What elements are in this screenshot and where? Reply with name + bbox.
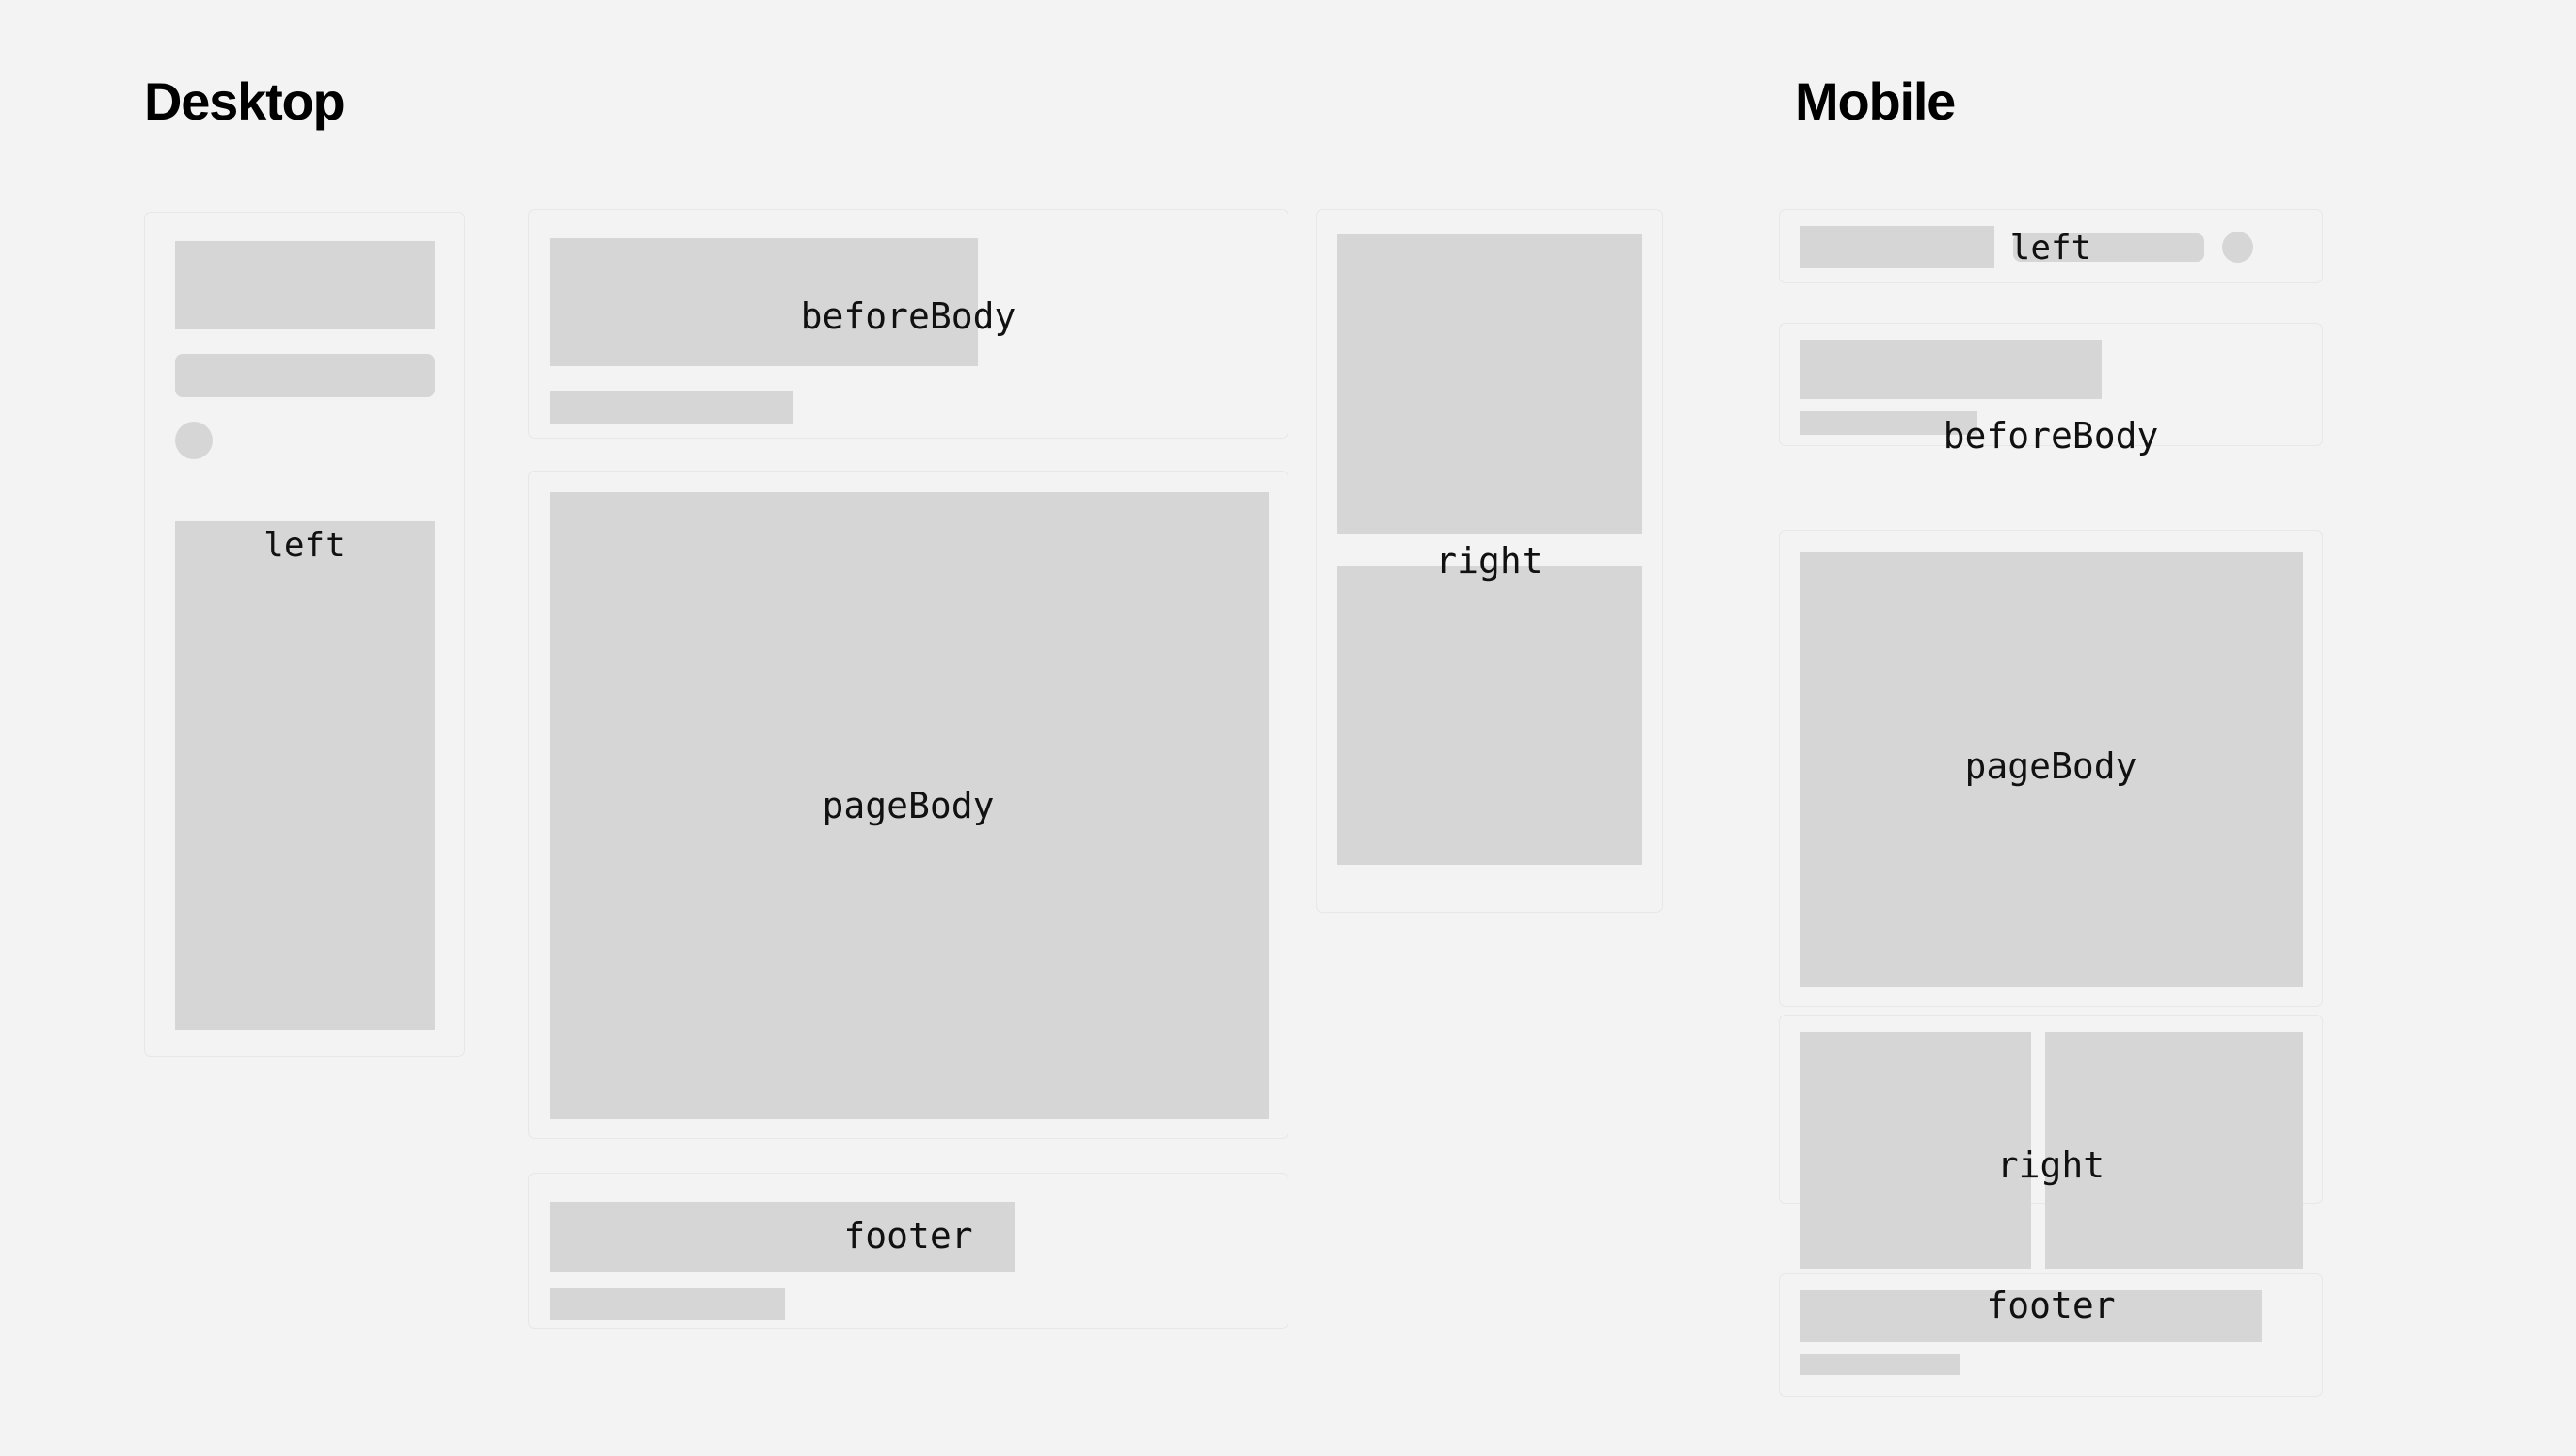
mobile-region-left[interactable]	[1779, 209, 2323, 283]
desktop-beforebody-banner-block	[550, 238, 978, 366]
mobile-footer-block	[1800, 1290, 2262, 1342]
desktop-right-widget-block-bottom	[1337, 566, 1642, 865]
mobile-footer-caption-bar	[1800, 1354, 1960, 1375]
mobile-region-right[interactable]	[1779, 1015, 2323, 1204]
mobile-left-avatar-dot-icon	[2222, 232, 2253, 263]
desktop-pagebody-content-block	[550, 492, 1269, 1119]
desktop-left-title-bar	[175, 354, 435, 397]
desktop-region-left[interactable]	[144, 212, 465, 1057]
desktop-region-pagebody[interactable]	[528, 471, 1288, 1139]
desktop-region-right[interactable]	[1316, 209, 1663, 913]
mobile-beforebody-banner-block	[1800, 340, 2102, 399]
layout-preview-canvas: Desktop left beforeBody pageBody footer …	[0, 0, 2576, 1456]
desktop-beforebody-caption-bar	[550, 391, 793, 424]
mobile-section-title: Mobile	[1795, 75, 1955, 128]
desktop-region-beforebody[interactable]	[528, 209, 1288, 439]
mobile-right-widget-block-left	[1800, 1032, 2031, 1269]
desktop-footer-block	[550, 1202, 1015, 1272]
desktop-right-widget-block-top	[1337, 234, 1642, 534]
mobile-left-image-block	[1800, 226, 1994, 268]
desktop-region-footer[interactable]	[528, 1173, 1288, 1329]
mobile-left-title-bar	[2013, 233, 2204, 262]
desktop-footer-caption-bar	[550, 1288, 785, 1320]
desktop-left-image-block	[175, 241, 435, 329]
mobile-pagebody-content-block	[1800, 552, 2303, 987]
desktop-section-title: Desktop	[144, 75, 344, 128]
mobile-beforebody-caption-bar	[1800, 411, 1977, 435]
desktop-left-content-block	[175, 521, 435, 1030]
mobile-region-footer[interactable]	[1779, 1273, 2323, 1397]
desktop-left-avatar-dot-icon	[175, 422, 213, 459]
mobile-region-pagebody[interactable]	[1779, 530, 2323, 1007]
mobile-right-widget-block-right	[2045, 1032, 2303, 1269]
mobile-region-beforebody[interactable]	[1779, 323, 2323, 446]
